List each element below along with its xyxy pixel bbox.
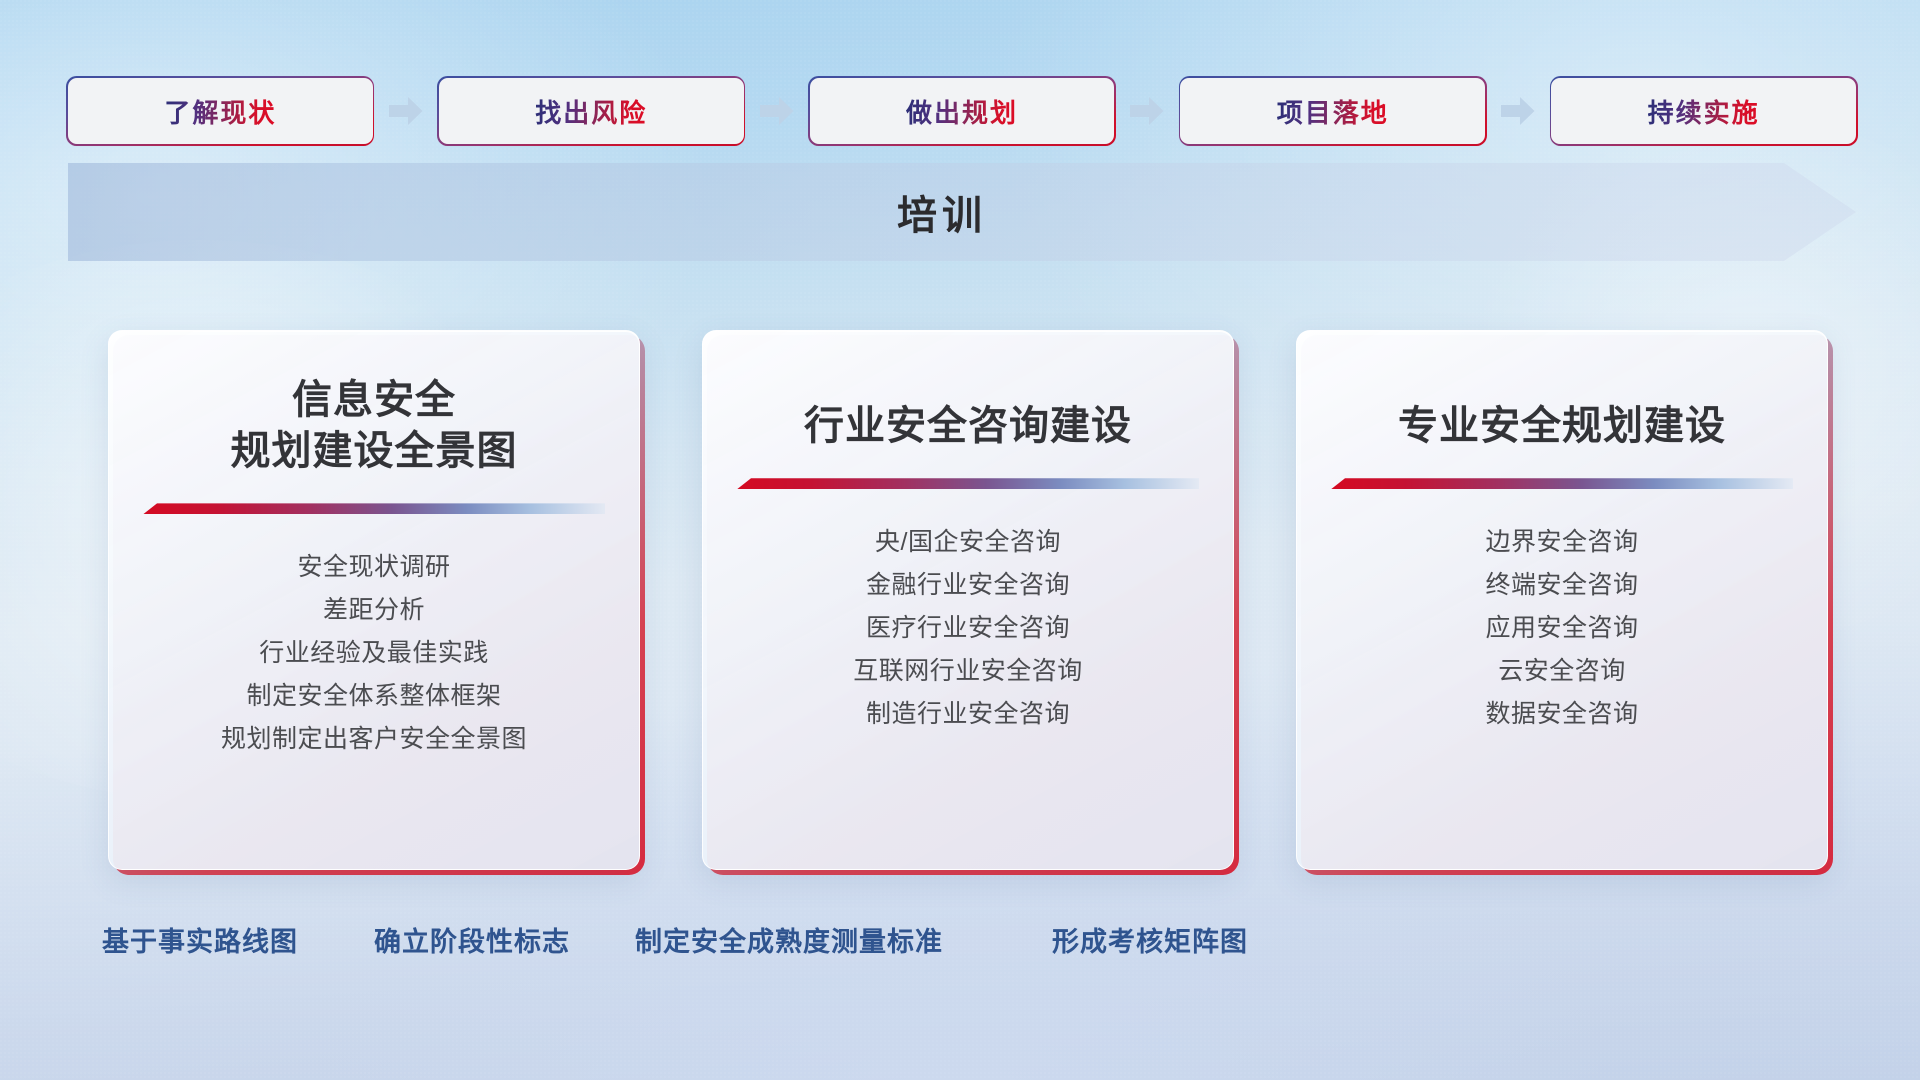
process-step-4[interactable]: 项目落地 <box>1180 78 1485 144</box>
list-item[interactable]: 制定安全体系整体框架 <box>143 675 605 718</box>
card-title: 信息安全 规划建设全景图 <box>231 375 518 477</box>
card-item-list: 央/国企安全咨询金融行业安全咨询医疗行业安全咨询互联网行业安全咨询制造行业安全咨… <box>737 521 1199 736</box>
process-step-5[interactable]: 持续实施 <box>1551 78 1856 144</box>
list-item[interactable]: 金融行业安全咨询 <box>737 564 1199 607</box>
training-banner: 培训 <box>68 163 1856 261</box>
divider-bar <box>737 478 1199 489</box>
arrow-right-icon <box>744 90 810 132</box>
divider-bar <box>1331 478 1793 489</box>
process-step-1[interactable]: 了解现状 <box>68 78 373 144</box>
list-item[interactable]: 云安全咨询 <box>1331 650 1793 693</box>
caption-4: 形成考核矩阵图 <box>1052 920 1248 959</box>
caption-3: 制定安全成熟度测量标准 <box>635 920 943 959</box>
list-item[interactable]: 行业经验及最佳实践 <box>143 632 605 675</box>
card-body: 专业安全规划建设边界安全咨询终端安全咨询应用安全咨询云安全咨询数据安全咨询 <box>1296 330 1828 870</box>
list-item[interactable]: 终端安全咨询 <box>1331 564 1793 607</box>
list-item[interactable]: 互联网行业安全咨询 <box>737 650 1199 693</box>
card-body: 信息安全 规划建设全景图安全现状调研差距分析行业经验及最佳实践制定安全体系整体框… <box>108 330 640 870</box>
list-item[interactable]: 安全现状调研 <box>143 546 605 589</box>
process-step-label: 了解现状 <box>164 93 276 130</box>
list-item[interactable]: 规划制定出客户安全全景图 <box>143 718 605 761</box>
caption-row: 基于事实路线图确立阶段性标志制定安全成熟度测量标准形成考核矩阵图 <box>0 920 1920 964</box>
service-card-2[interactable]: 行业安全咨询建设央/国企安全咨询金融行业安全咨询医疗行业安全咨询互联网行业安全咨… <box>702 330 1234 870</box>
process-step-label: 做出规划 <box>906 93 1018 130</box>
card-title: 行业安全咨询建设 <box>804 375 1132 452</box>
arrow-right-icon <box>1485 90 1551 132</box>
caption-2: 确立阶段性标志 <box>374 920 570 959</box>
process-step-3[interactable]: 做出规划 <box>810 78 1115 144</box>
process-step-label: 项目落地 <box>1277 93 1389 130</box>
card-row: 信息安全 规划建设全景图安全现状调研差距分析行业经验及最佳实践制定安全体系整体框… <box>108 330 1828 870</box>
banner-label: 培训 <box>68 163 1856 261</box>
card-accent-divider <box>143 503 605 514</box>
arrow-right-icon <box>1114 90 1180 132</box>
list-item[interactable]: 差距分析 <box>143 589 605 632</box>
card-item-list: 边界安全咨询终端安全咨询应用安全咨询云安全咨询数据安全咨询 <box>1331 521 1793 736</box>
card-accent-divider <box>737 478 1199 489</box>
divider-bar <box>143 503 605 514</box>
process-step-label: 找出风险 <box>535 93 647 130</box>
card-accent-divider <box>1331 478 1793 489</box>
card-item-list: 安全现状调研差距分析行业经验及最佳实践制定安全体系整体框架规划制定出客户安全全景… <box>143 546 605 761</box>
caption-1: 基于事实路线图 <box>102 920 298 959</box>
card-title: 专业安全规划建设 <box>1398 375 1726 452</box>
process-step-2[interactable]: 找出风险 <box>439 78 744 144</box>
arrow-right-icon <box>373 90 439 132</box>
list-item[interactable]: 边界安全咨询 <box>1331 521 1793 564</box>
service-card-1[interactable]: 信息安全 规划建设全景图安全现状调研差距分析行业经验及最佳实践制定安全体系整体框… <box>108 330 640 870</box>
process-step-row: 了解现状找出风险做出规划项目落地持续实施 <box>68 78 1856 144</box>
list-item[interactable]: 制造行业安全咨询 <box>737 693 1199 736</box>
service-card-3[interactable]: 专业安全规划建设边界安全咨询终端安全咨询应用安全咨询云安全咨询数据安全咨询 <box>1296 330 1828 870</box>
list-item[interactable]: 应用安全咨询 <box>1331 607 1793 650</box>
process-step-label: 持续实施 <box>1648 93 1760 130</box>
list-item[interactable]: 医疗行业安全咨询 <box>737 607 1199 650</box>
list-item[interactable]: 数据安全咨询 <box>1331 693 1793 736</box>
slide-canvas: 了解现状找出风险做出规划项目落地持续实施 培训 信息安全 规划建设全景图安全现状… <box>0 0 1920 1080</box>
card-body: 行业安全咨询建设央/国企安全咨询金融行业安全咨询医疗行业安全咨询互联网行业安全咨… <box>702 330 1234 870</box>
list-item[interactable]: 央/国企安全咨询 <box>737 521 1199 564</box>
